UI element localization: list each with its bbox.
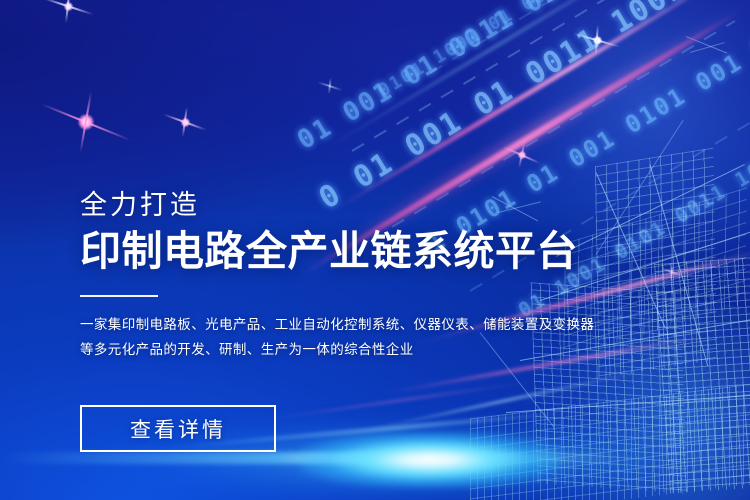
center-glow-core <box>300 432 560 488</box>
hero-text-block: 全力打造 印制电路全产业链系统平台 一家集印制电路板、光电产品、工业自动化控制系… <box>80 192 600 362</box>
view-details-button-label: 查看详情 <box>130 414 226 444</box>
hero-divider <box>80 295 158 297</box>
hero-headline: 印制电路全产业链系统平台 <box>80 230 600 273</box>
hero-description-line-2: 等多元化产品的开发、研制、生产为一体的综合性企业 <box>80 337 600 362</box>
hero-banner: 0101 1001 01 0011 0101 1001 0101 0011 01… <box>0 0 750 500</box>
view-details-button[interactable]: 查看详情 <box>80 405 276 452</box>
hero-eyebrow: 全力打造 <box>80 192 600 219</box>
hero-description-line-1: 一家集印制电路板、光电产品、工业自动化控制系统、仪器仪表、储能装置及变换器 <box>80 312 600 337</box>
hero-description: 一家集印制电路板、光电产品、工业自动化控制系统、仪器仪表、储能装置及变换器 等多… <box>80 312 600 362</box>
